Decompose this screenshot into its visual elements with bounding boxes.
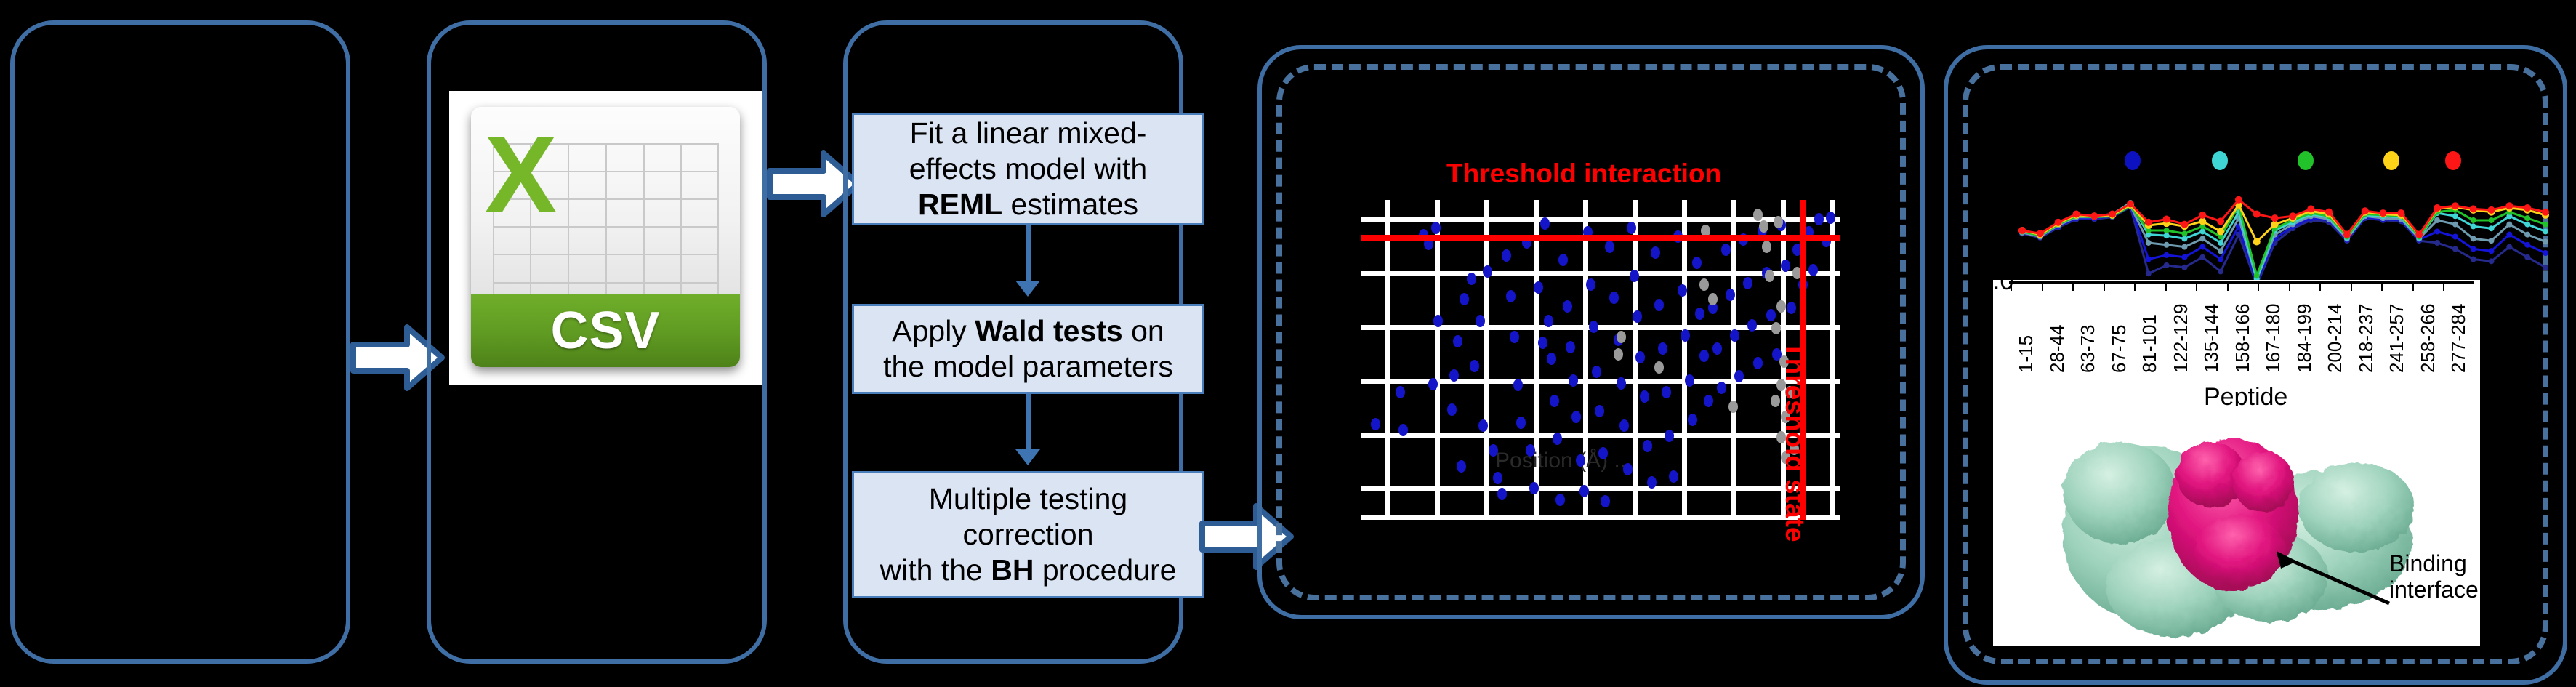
x-tick-label: 218-237: [2355, 304, 2378, 373]
series-point-blue: [2218, 257, 2223, 262]
series-point-navy: [2471, 257, 2476, 262]
grid-h: [1361, 325, 1840, 330]
series-point-steel: [2452, 222, 2458, 228]
connector-line-1: [1026, 225, 1031, 282]
series-point-blue: [2164, 252, 2170, 258]
binding-label-line2: interface: [2389, 577, 2479, 603]
x-tick-label: 200-214: [2324, 304, 2346, 373]
scatter-point: [1826, 212, 1835, 224]
peptide-line-chart: [2000, 145, 2553, 291]
scatter-point: [1396, 386, 1405, 398]
scatter-point: [1510, 331, 1519, 343]
series-point-steel: [2218, 248, 2223, 254]
scatter-point: [1619, 419, 1629, 432]
scatter-point: [1726, 289, 1735, 301]
x-tick-mark: [2072, 283, 2074, 291]
scatter-point: [1431, 222, 1441, 234]
empty-stage-panel: [10, 20, 350, 664]
csv-file-icon: X CSV: [471, 107, 740, 367]
scatter-point: [1595, 405, 1604, 417]
series-point-red: [2055, 219, 2062, 226]
scatter-point: [1651, 246, 1660, 259]
volcano-scatter-figure: Threshold interaction Position (Å) ...: [1345, 131, 1853, 538]
scatter-point: [1563, 300, 1572, 313]
x-tick-label: 241-257: [2386, 304, 2408, 373]
series-point-red: [2217, 217, 2224, 225]
x-tick-mark: [2227, 283, 2229, 291]
scatter-point: [1640, 390, 1649, 403]
x-tick-label: 122-129: [2170, 304, 2192, 373]
scatter-point: [1688, 414, 1697, 426]
scatter-point-ns: [1708, 293, 1718, 305]
scatter-point: [1743, 277, 1752, 289]
series-point-blue: [2506, 232, 2512, 238]
series-point-red: [2090, 212, 2098, 220]
x-tick-label: 258-266: [2417, 304, 2439, 373]
flowchart-canvas: X CSV Fit a linear mixed- effects model …: [0, 0, 2576, 687]
csv-icon-card: X CSV: [449, 91, 762, 385]
scatter-plot-area: Position (Å) ...: [1361, 200, 1840, 520]
series-point-steel: [2543, 239, 2548, 245]
connector-arrowhead-2: [1015, 449, 1040, 465]
x-tick-label: 28-44: [2046, 325, 2069, 374]
series-point-steel: [2471, 236, 2476, 241]
series-point-green: [2524, 215, 2530, 221]
series-point-red: [2018, 227, 2026, 234]
series-point-cyan: [2164, 233, 2170, 238]
scatter-point: [1635, 351, 1645, 363]
series-point-navy: [2524, 254, 2530, 260]
scatter-point: [1547, 353, 1556, 365]
series-point-red: [2452, 202, 2459, 209]
series-point-green: [2254, 273, 2260, 278]
x-tick-label: 1-15: [2015, 335, 2037, 373]
scatter-point: [1633, 310, 1642, 323]
x-tick-label: 135-144: [2200, 304, 2223, 373]
step-box-wald-tests[interactable]: Apply Wald tests on the model parameters: [852, 304, 1204, 394]
scatter-point: [1470, 360, 1479, 372]
scatter-point: [1513, 379, 1523, 391]
series-point-navy: [2434, 240, 2440, 246]
csv-label-text: CSV: [550, 301, 660, 361]
scatter-point: [1433, 315, 1443, 327]
series-point-blue: [2471, 246, 2476, 252]
peptide-series-lines: [2000, 145, 2553, 291]
scatter-point: [1566, 341, 1575, 353]
scatter-point: [1586, 278, 1595, 291]
series-point-red: [2434, 204, 2441, 212]
x-tick-label: 158-166: [2231, 304, 2254, 373]
series-point-blue: [2146, 257, 2152, 262]
scatter-point: [1589, 321, 1598, 333]
x-tick-label: 167-180: [2262, 304, 2285, 373]
step-text-fit-model: Fit a linear mixed- effects model with R…: [909, 116, 1147, 223]
grid-v: [1435, 200, 1440, 520]
x-tick-label: 63-73: [2077, 325, 2099, 374]
scatter-point: [1371, 418, 1380, 430]
scatter-point-ns: [1699, 278, 1709, 291]
scatter-point: [1787, 302, 1796, 314]
series-point-red: [2271, 214, 2279, 222]
scatter-point: [1654, 299, 1664, 311]
scatter-point: [1506, 290, 1516, 302]
series-point-red: [2397, 209, 2404, 217]
scatter-point: [1579, 485, 1589, 497]
series-point-blue: [2489, 248, 2495, 254]
scatter-point: [1569, 374, 1578, 387]
scatter-point: [1766, 309, 1776, 321]
scatter-point-ns: [1771, 322, 1781, 334]
series-line-cyan: [2022, 203, 2545, 278]
x-tick-mark: [2165, 283, 2167, 291]
series-point-red: [2037, 230, 2044, 237]
scatter-point: [1493, 472, 1502, 484]
series-point-red: [2470, 205, 2477, 212]
scatter-point: [1576, 454, 1585, 467]
scatter-point: [1592, 366, 1601, 378]
scatter-point: [1555, 494, 1565, 506]
grid-v: [1731, 200, 1736, 520]
scatter-point: [1447, 403, 1457, 416]
series-point-steel: [2489, 238, 2495, 244]
series-point-red: [2362, 207, 2369, 214]
series-point-red: [2235, 196, 2242, 204]
scatter-point: [1730, 329, 1739, 342]
series-point-red: [2325, 209, 2333, 216]
scatter-point: [1695, 308, 1704, 320]
x-tick-label: 184-199: [2293, 304, 2316, 373]
grid-v: [1682, 200, 1687, 520]
scatter-point: [1529, 482, 1539, 494]
scatter-point: [1526, 444, 1535, 457]
scatter-point: [1497, 488, 1507, 500]
csv-x-glyph: X: [485, 120, 592, 245]
x-tick-mark: [2412, 283, 2414, 291]
series-point-cyan: [2489, 225, 2495, 231]
series-point-red: [2163, 216, 2170, 223]
series-point-cyan: [2218, 240, 2223, 246]
series-point-navy: [2452, 246, 2458, 252]
series-point-red: [2307, 205, 2314, 212]
scatter-point: [1808, 264, 1818, 276]
x-tick-mark: [2319, 283, 2321, 291]
series-point-cyan: [2181, 236, 2187, 241]
step-text-wald-tests: Apply Wald tests on the model parameters: [883, 313, 1173, 385]
scatter-point: [1609, 292, 1619, 304]
connector-line-2: [1026, 394, 1031, 451]
scatter-point-ns: [1753, 209, 1763, 221]
scatter-point: [1712, 342, 1722, 355]
series-point-navy: [2489, 258, 2495, 264]
series-point-yellow: [2253, 238, 2261, 246]
series-point-green: [2489, 217, 2495, 223]
scatter-point: [1540, 217, 1550, 230]
series-point-red: [2542, 209, 2549, 216]
scatter-point-ns: [1776, 300, 1786, 313]
scatter-point: [1692, 257, 1702, 269]
scatter-point: [1502, 249, 1511, 262]
series-point-steel: [2164, 242, 2170, 248]
scatter-point: [1647, 476, 1657, 489]
series-point-red: [2289, 212, 2296, 220]
scatter-point: [1643, 440, 1652, 452]
step-text-bh-correction: Multiple testing correction with the BH …: [880, 481, 1177, 589]
x-tick-mark: [2134, 283, 2136, 291]
scatter-point: [1617, 377, 1626, 390]
grid-h: [1361, 217, 1840, 222]
scatter-point: [1483, 265, 1492, 278]
series-point-red: [2072, 210, 2080, 217]
grid-h: [1361, 433, 1840, 438]
scatter-point: [1598, 447, 1608, 459]
scatter-point: [1753, 357, 1763, 369]
series-point-green: [2181, 230, 2187, 236]
series-point-cyan: [2199, 228, 2205, 234]
threshold-state-label: Threshold state: [1779, 342, 1810, 542]
grid-v: [1385, 200, 1390, 520]
x-tick-label: 277-284: [2447, 304, 2470, 373]
series-point-red: [2343, 231, 2351, 238]
scatter-point: [1747, 319, 1757, 332]
x-tick-mark: [2104, 283, 2105, 291]
grid-h: [1361, 515, 1840, 520]
series-point-red: [2380, 209, 2387, 217]
scatter-point: [1553, 433, 1562, 445]
x-tick-mark: [2042, 283, 2043, 291]
series-point-navy: [2506, 244, 2512, 250]
scatter-point: [1678, 284, 1687, 297]
series-point-cyan: [2452, 213, 2458, 219]
series-point-blue: [2181, 254, 2187, 260]
peptide-y-axis-tick-0: 0.0: [1979, 268, 2013, 296]
scatter-point: [1449, 369, 1459, 382]
x-tick-mark: [2258, 283, 2259, 291]
x-tick-mark: [2443, 283, 2444, 291]
series-point-red: [2181, 221, 2188, 228]
series-point-green: [2543, 222, 2548, 228]
scatter-point: [1516, 417, 1526, 429]
scatter-point: [1704, 395, 1713, 407]
scatter-point: [1544, 315, 1553, 327]
connector-arrowhead-1: [1015, 281, 1040, 297]
scatter-point: [1627, 222, 1636, 234]
series-point-navy: [2146, 270, 2152, 276]
series-point-red: [2253, 210, 2261, 217]
x-tick-label: 81-101: [2138, 314, 2161, 373]
scatter-point: [1453, 335, 1462, 347]
binding-label-line1: Binding: [2389, 551, 2479, 577]
scatter-point: [1398, 424, 1408, 436]
series-point-blue: [2524, 242, 2530, 248]
series-point-red: [2199, 212, 2206, 219]
scatter-point: [1781, 260, 1790, 272]
scatter-point-ns: [1617, 331, 1626, 343]
x-tick-mark: [2196, 283, 2197, 291]
protein-structure-image: Binding interface: [1993, 406, 2480, 646]
x-tick-mark: [2381, 283, 2383, 291]
scatter-point: [1623, 463, 1633, 475]
grid-v: [1830, 200, 1835, 520]
scatter-point: [1630, 270, 1639, 282]
x-tick-label: 67-75: [2108, 325, 2130, 374]
csv-label-band: CSV: [471, 294, 740, 367]
series-point-steel: [2434, 217, 2440, 223]
series-point-cyan: [2524, 222, 2530, 228]
series-point-navy: [2218, 268, 2223, 274]
series-point-yellow: [2217, 228, 2224, 235]
series-point-red: [2127, 200, 2134, 207]
scatter-point-ns: [1654, 361, 1664, 374]
series-point-green: [2164, 228, 2170, 233]
scatter-point: [1467, 273, 1476, 285]
scatter-point-ns: [1728, 401, 1738, 413]
scatter-point: [1489, 444, 1498, 457]
binding-interface-label: Binding interface: [2389, 551, 2479, 603]
series-point-red: [2145, 219, 2152, 226]
protein-surface-render: [1993, 406, 2480, 646]
series-point-steel: [2146, 240, 2152, 246]
series-point-navy: [2181, 265, 2187, 270]
series-point-cyan: [2543, 228, 2548, 234]
scatter-point: [1428, 378, 1438, 390]
scatter-point: [1662, 386, 1671, 398]
series-point-navy: [2543, 265, 2548, 270]
grid-v: [1484, 200, 1489, 520]
series-point-steel: [2524, 232, 2530, 238]
scatter-point-ns: [1765, 270, 1774, 282]
series-point-blue: [2452, 234, 2458, 240]
series-point-blue: [2199, 244, 2205, 250]
step-box-fit-model[interactable]: Fit a linear mixed- effects model with R…: [852, 113, 1204, 225]
scatter-point: [1814, 213, 1824, 225]
scatter-point: [1734, 370, 1744, 382]
series-point-red: [2109, 210, 2116, 217]
series-point-cyan: [2471, 223, 2476, 229]
series-point-steel: [2199, 236, 2205, 241]
scatter-point: [1476, 315, 1485, 327]
scatter-point: [1460, 293, 1469, 305]
peptide-axis-area: 1-1528-4463-7367-7581-101122-129135-1441…: [1993, 280, 2480, 411]
threshold-interaction-line: [1361, 235, 1840, 241]
series-point-navy: [2199, 254, 2205, 260]
scatter-point: [1699, 350, 1709, 362]
scatter-point: [1478, 419, 1488, 432]
series-point-red: [2415, 231, 2423, 238]
scatter-point: [1550, 395, 1559, 407]
series-point-red: [2488, 206, 2495, 214]
threshold-interaction-label: Threshold interaction: [1446, 158, 1721, 189]
scatter-point: [1457, 460, 1466, 473]
scatter-point: [1721, 244, 1731, 256]
scatter-point: [1685, 374, 1694, 387]
series-point-blue: [2543, 250, 2548, 256]
step-box-bh-correction[interactable]: Multiple testing correction with the BH …: [852, 471, 1204, 598]
scatter-point: [1601, 495, 1610, 507]
series-point-steel: [2181, 244, 2187, 250]
series-point-navy: [2164, 262, 2170, 268]
scatter-point: [1669, 470, 1678, 483]
scatter-point-ns: [1774, 216, 1783, 228]
series-point-green: [2471, 217, 2476, 223]
scatter-point: [1658, 342, 1667, 355]
scatter-point-ns: [1614, 348, 1623, 361]
series-point-steel: [2506, 222, 2512, 228]
scatter-ghost-axis-label: Position (Å) ...: [1495, 449, 1632, 473]
x-tick-mark: [2351, 283, 2352, 291]
series-point-red: [2524, 204, 2531, 212]
scatter-point: [1605, 241, 1614, 253]
scatter-point: [1681, 329, 1690, 342]
scatter-point: [1717, 382, 1726, 394]
scatter-point: [1558, 254, 1568, 266]
series-point-blue: [2434, 228, 2440, 234]
scatter-point: [1571, 411, 1581, 423]
scatter-point: [1665, 430, 1674, 442]
grid-h: [1361, 486, 1840, 491]
scatter-point: [1534, 281, 1543, 294]
scatter-point-ns: [1762, 241, 1771, 253]
scatter-point-ns: [1759, 220, 1768, 233]
series-point-red: [2505, 202, 2513, 209]
scatter-point: [1538, 337, 1547, 349]
x-tick-mark: [2289, 283, 2290, 291]
